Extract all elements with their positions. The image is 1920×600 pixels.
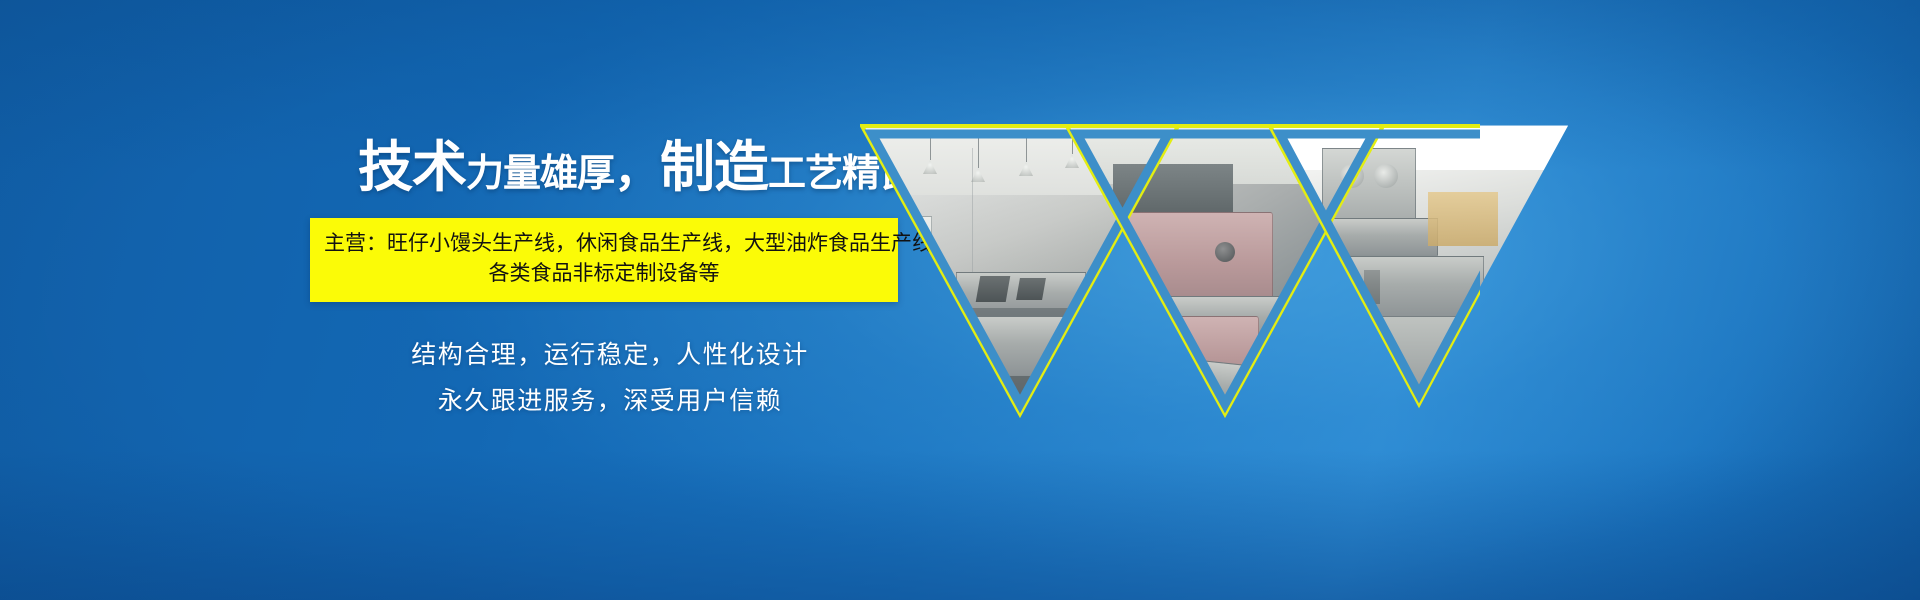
machine-control-panel [934,316,970,380]
promo-highlight-box: 主营：旺仔小馒头生产线，休闲食品生产线，大型油炸食品生产线， 各类食品非标定制设… [310,218,898,302]
headline-segment-3: 制造 [660,135,768,199]
banner-text-block: 技术力量雄厚，制造工艺精良 主营：旺仔小馒头生产线，休闲食品生产线，大型油炸食品… [300,140,900,195]
headline-segment-2: 力量雄厚 [466,151,614,195]
subtitle-line-1: 结构合理，运行稳定，人性化设计 [300,332,920,378]
promo-line-1: 主营：旺仔小馒头生产线，休闲食品生产线，大型油炸食品生产线， [324,229,884,259]
headline: 技术力量雄厚，制造工艺精良 [358,140,900,195]
subtitle-block: 结构合理，运行稳定，人性化设计 永久跟进服务，深受用户信赖 [300,332,920,425]
triangle-image-cluster [860,120,1480,420]
promo-line-2: 各类食品非标定制设备等 [324,259,884,289]
headline-segment-1: 技术 [358,135,466,199]
promotional-banner: 技术力量雄厚，制造工艺精良 主营：旺仔小馒头生产线，休闲食品生产线，大型油炸食品… [0,0,1920,600]
headline-comma: ， [614,143,660,197]
subtitle-line-2: 永久跟进服务，深受用户信赖 [300,378,920,424]
